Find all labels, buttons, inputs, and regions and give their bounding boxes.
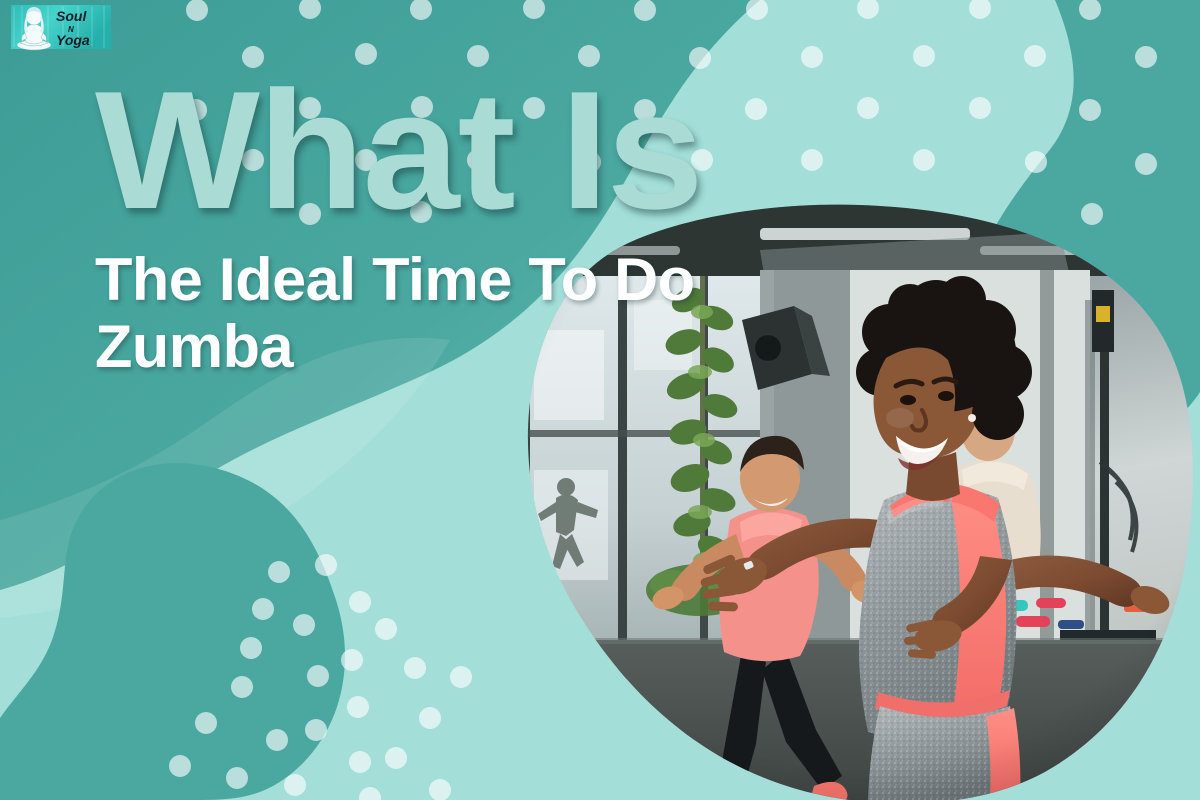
zumba-blog-banner: What Is The Ideal Time To Do Zumba xyxy=(0,0,1200,800)
soul-n-yoga-logo[interactable]: Soul N Yoga xyxy=(8,3,116,53)
logo-text-soul: Soul xyxy=(56,8,87,24)
dot-pattern xyxy=(0,0,1200,800)
logo-text-yoga: Yoga xyxy=(56,32,90,48)
